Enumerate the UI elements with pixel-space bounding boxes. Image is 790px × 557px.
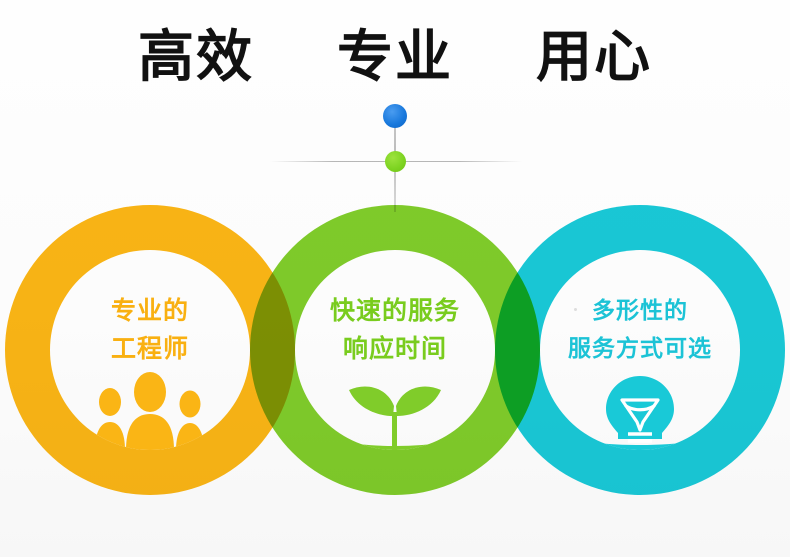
circle-service-modes-line-2: 服务方式可选 bbox=[540, 330, 740, 368]
circle-response-time[interactable]: 快速的服务 响应时间 bbox=[295, 250, 495, 450]
circle-response-time-line-1: 快速的服务 bbox=[295, 292, 495, 330]
circle-engineers-line-2: 工程师 bbox=[50, 330, 250, 368]
circle-engineers[interactable]: 专业的 工程师 bbox=[50, 250, 250, 450]
sprout-icon bbox=[295, 372, 495, 450]
circle-service-modes-text: 多形性的 服务方式可选 bbox=[540, 292, 740, 368]
circle-engineers-line-1: 专业的 bbox=[50, 292, 250, 330]
circle-response-time-line-2: 响应时间 bbox=[295, 330, 495, 368]
circle-service-modes[interactable]: 多形性的 服务方式可选 bbox=[540, 250, 740, 450]
lightbulb-icon bbox=[540, 372, 740, 450]
poster-canvas: 高效 专业 用心 专业的 工程师 bbox=[0, 0, 790, 557]
circle-service-modes-line-1: 多形性的 bbox=[540, 292, 740, 330]
circle-response-time-text: 快速的服务 响应时间 bbox=[295, 292, 495, 368]
circle-engineers-text: 专业的 工程师 bbox=[50, 292, 250, 368]
three-people-icon bbox=[50, 372, 250, 450]
